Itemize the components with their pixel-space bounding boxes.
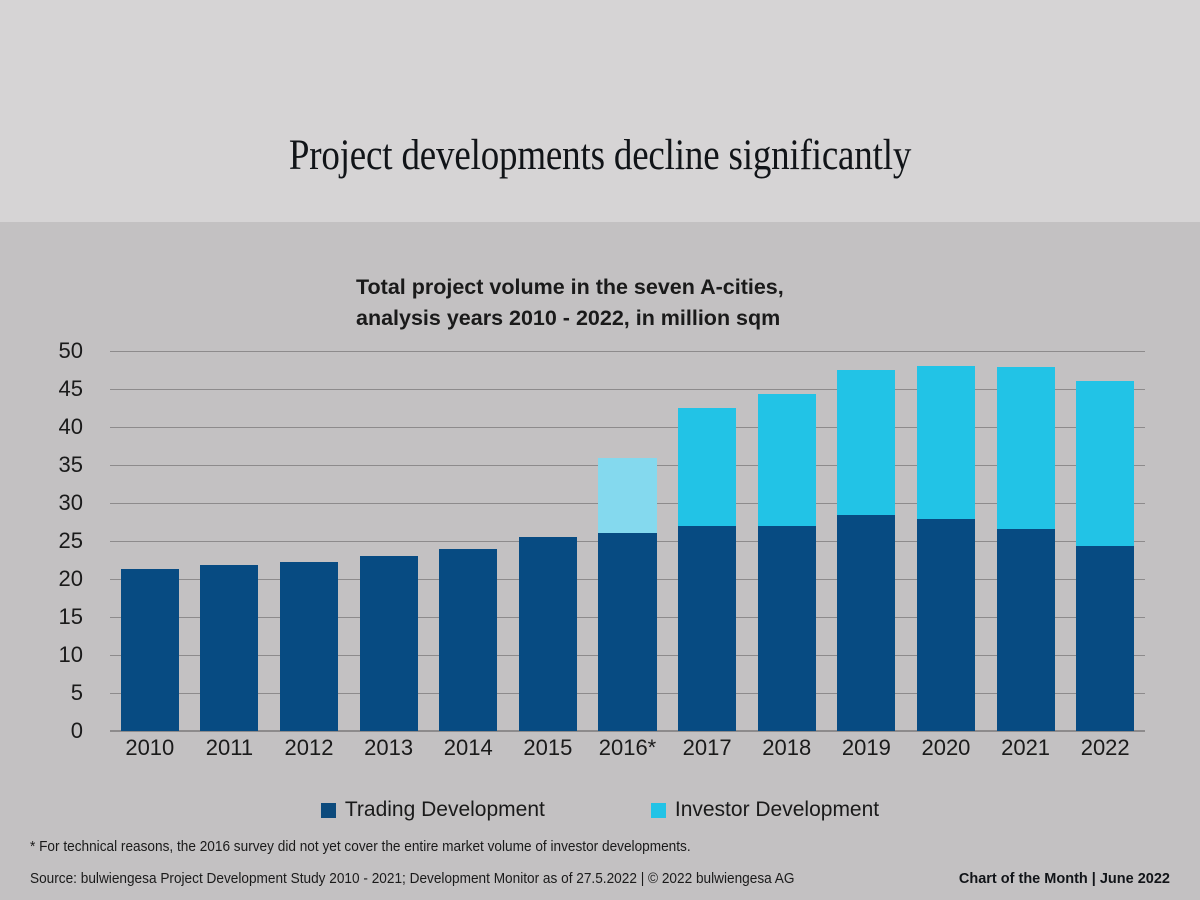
y-axis-tick-label: 30 [13, 490, 83, 516]
chart-subtitle: Total project volume in the seven A-citi… [356, 272, 784, 334]
bar-segment-investor-development[interactable] [758, 394, 816, 525]
bar-segment-trading-development[interactable] [1076, 546, 1134, 731]
bar-segment-trading-development[interactable] [439, 549, 497, 731]
legend-label: Trading Development [345, 798, 545, 822]
x-axis-tick-label: 2021 [986, 735, 1066, 761]
y-axis-tick-label: 0 [13, 718, 83, 744]
x-axis-tick-label: 2013 [349, 735, 429, 761]
bar-segment-trading-development[interactable] [598, 533, 656, 731]
bar-column[interactable] [997, 367, 1055, 731]
bar-segment-investor-development[interactable] [837, 370, 895, 515]
legend-label: Investor Development [675, 798, 879, 822]
y-axis-tick-label: 20 [13, 566, 83, 592]
y-axis-tick-label: 50 [13, 338, 83, 364]
source-text: Source: bulwiengesa Project Development … [30, 871, 794, 887]
header-band [0, 0, 1200, 222]
y-axis-tick-label: 15 [13, 604, 83, 630]
chart-legend: Trading DevelopmentInvestor Development [0, 798, 1200, 822]
chart-subtitle-line1: Total project volume in the seven A-citi… [356, 275, 784, 299]
y-axis-tick-label: 25 [13, 528, 83, 554]
x-axis-tick-label: 2011 [190, 735, 270, 761]
bar-segment-investor-development[interactable] [598, 458, 656, 533]
x-axis-tick-label: 2012 [269, 735, 349, 761]
y-axis-tick-label: 45 [13, 376, 83, 402]
bar-segment-trading-development[interactable] [200, 565, 258, 731]
x-axis-tick-label: 2020 [906, 735, 986, 761]
bar-segment-investor-development[interactable] [1076, 381, 1134, 547]
x-axis-tick-label: 2019 [827, 735, 907, 761]
x-axis-tick-label: 2018 [747, 735, 827, 761]
legend-swatch-icon [321, 803, 336, 818]
gridline [110, 427, 1145, 428]
y-axis-tick-label: 40 [13, 414, 83, 440]
bar-column[interactable] [519, 537, 577, 731]
bar-segment-trading-development[interactable] [519, 537, 577, 731]
gridline [110, 351, 1145, 352]
y-axis-tick-label: 10 [13, 642, 83, 668]
bar-segment-investor-development[interactable] [997, 367, 1055, 529]
bar-column[interactable] [758, 394, 816, 731]
bar-segment-trading-development[interactable] [360, 556, 418, 731]
bar-column[interactable] [917, 366, 975, 731]
x-axis-tick-label: 2015 [508, 735, 588, 761]
legend-item[interactable]: Trading Development [321, 798, 545, 822]
y-axis-tick-label: 35 [13, 452, 83, 478]
slide-root: Project developments decline significant… [0, 0, 1200, 900]
legend-item[interactable]: Investor Development [651, 798, 879, 822]
x-axis-tick-label: 2014 [428, 735, 508, 761]
bar-segment-trading-development[interactable] [758, 526, 816, 731]
gridline [110, 389, 1145, 390]
bar-segment-trading-development[interactable] [837, 515, 895, 731]
footnote-text: * For technical reasons, the 2016 survey… [30, 839, 691, 855]
bar-segment-investor-development[interactable] [678, 408, 736, 526]
bar-segment-trading-development[interactable] [121, 569, 179, 731]
bar-segment-trading-development[interactable] [280, 562, 338, 731]
x-axis-tick-label: 2017 [667, 735, 747, 761]
bar-column[interactable] [837, 370, 895, 731]
chart-plot-area: 0510152025303540455020102011201220132014… [110, 351, 1145, 731]
bar-column[interactable] [598, 458, 656, 731]
bar-column[interactable] [121, 569, 179, 731]
x-axis-tick-label: 2010 [110, 735, 190, 761]
bar-segment-trading-development[interactable] [997, 529, 1055, 731]
bar-segment-investor-development[interactable] [917, 366, 975, 519]
page-title: Project developments decline significant… [84, 131, 1116, 180]
y-axis-tick-label: 5 [13, 680, 83, 706]
bar-column[interactable] [280, 562, 338, 731]
x-axis-tick-label: 2022 [1065, 735, 1145, 761]
x-axis-tick-label: 2016* [588, 735, 668, 761]
brand-text: Chart of the Month | June 2022 [959, 871, 1170, 887]
chart-subtitle-line2: analysis years 2010 - 2022, in million s… [356, 303, 784, 334]
legend-swatch-icon [651, 803, 666, 818]
bar-segment-trading-development[interactable] [917, 519, 975, 731]
bar-column[interactable] [439, 549, 497, 731]
bar-column[interactable] [678, 408, 736, 731]
bar-column[interactable] [360, 556, 418, 731]
bar-segment-trading-development[interactable] [678, 526, 736, 731]
bar-column[interactable] [200, 565, 258, 731]
bar-column[interactable] [1076, 381, 1134, 731]
